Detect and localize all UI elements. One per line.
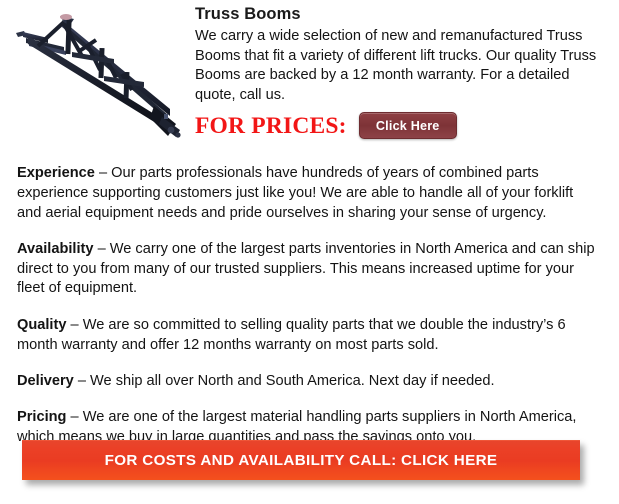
feature-label: Availability — [17, 241, 94, 257]
click-here-button[interactable]: Click Here — [359, 112, 457, 139]
feature-label: Experience — [17, 165, 95, 181]
feature-dash: – — [95, 165, 111, 181]
hero-text-block: Truss Booms We carry a wide selection of… — [195, 4, 610, 139]
feature-label: Pricing — [17, 409, 66, 425]
feature-dash: – — [74, 373, 90, 389]
feature-paragraph-experience: Experience – Our parts professionals hav… — [17, 164, 597, 223]
for-prices-label: FOR PRICES: — [195, 113, 347, 139]
truss-boom-illustration — [4, 2, 190, 154]
feature-paragraph-availability: Availability – We carry one of the large… — [17, 240, 597, 299]
product-description: We carry a wide selection of new and rem… — [195, 27, 605, 105]
cta-bar-wrapper: FOR COSTS AND AVAILABILITY CALL: CLICK H… — [22, 440, 580, 480]
feature-text: We are so committed to selling quality p… — [17, 317, 566, 353]
for-prices-row: FOR PRICES: Click Here — [195, 112, 610, 139]
feature-text: We ship all over North and South America… — [90, 373, 495, 389]
boom-cross-braces — [72, 52, 144, 87]
feature-label: Delivery — [17, 373, 74, 389]
feature-dash: – — [94, 241, 110, 257]
feature-list: Experience – Our parts professionals hav… — [17, 164, 597, 448]
cta-call-click-here-button[interactable]: FOR COSTS AND AVAILABILITY CALL: CLICK H… — [22, 440, 580, 480]
page-title: Truss Booms — [195, 4, 610, 24]
feature-dash: – — [66, 317, 82, 333]
feature-dash: – — [66, 409, 82, 425]
feature-label: Quality — [17, 317, 66, 333]
hero-section: Truss Booms We carry a wide selection of… — [0, 0, 619, 160]
feature-paragraph-quality: Quality – We are so committed to selling… — [17, 316, 597, 356]
truss-boom-product-image — [4, 2, 190, 154]
boom-apex-bushing — [60, 14, 72, 20]
feature-paragraph-delivery: Delivery – We ship all over North and So… — [17, 372, 597, 392]
